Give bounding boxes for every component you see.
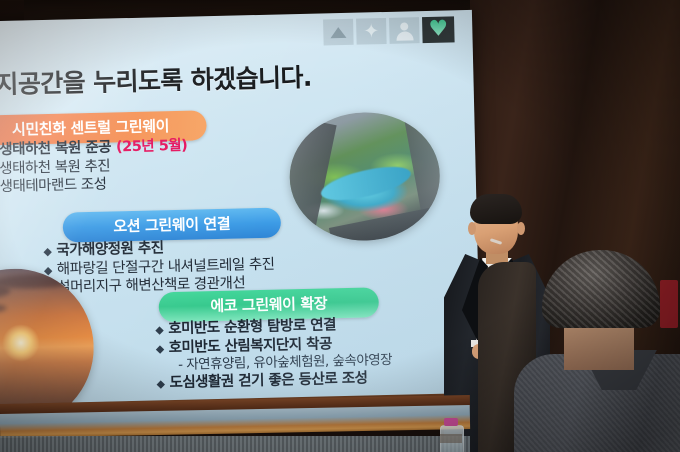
bullet-highlight: (25년 5월): [116, 137, 188, 157]
presenter-ear-right: [517, 222, 525, 235]
bottle-label: [440, 434, 462, 443]
podium-mesh-panel: [0, 436, 470, 452]
slide-title: 지공간을 누리도록 하겠습니다.: [0, 58, 312, 101]
sparkle-icon: ✦: [356, 18, 387, 45]
water-bottle: [440, 418, 462, 452]
diamond-bullet-icon: ◆: [156, 342, 164, 356]
projection-screen: ✦ ♥ 지공간을 누리도록 하겠습니다. 시민친화 센트럴 그린웨이 산천 생태…: [0, 10, 481, 412]
audience-hair: [542, 250, 660, 328]
diamond-bullet-icon: ◆: [155, 323, 163, 337]
person-icon: [389, 17, 420, 44]
bottle-cap: [444, 418, 458, 426]
audience-member-foreground: [520, 250, 680, 452]
diamond-bullet-icon: ◆: [43, 245, 51, 259]
chevron-up-icon: [323, 19, 354, 46]
bullet-group-eco: ◆호미반도 순환형 탐방로 연결 ◆호미반도 산림복지단지 착공 - 자연휴양림…: [155, 315, 393, 393]
presenter-ear-left: [468, 222, 476, 235]
bullet-item: 환경 생태테마랜드 조성: [0, 174, 188, 198]
diamond-bullet-icon: ◆: [156, 378, 164, 392]
presenter-hair: [470, 194, 522, 224]
heart-icon: ♥: [422, 16, 455, 43]
bullet-group-ocean: ◆국가해양정원 추진 ◆해파랑길 단절구간 내셔널트레일 추진 ◆설머리지구 해…: [43, 237, 275, 298]
slide-watermark-logo: ✦ ♥: [323, 16, 455, 45]
riverside-park-rendering: [288, 111, 441, 242]
bullet-group-central: 산천 생태하천 복원 준공(25년 5월) 학천 생태하천 복원 추진 환경 생…: [0, 137, 188, 198]
conference-room-photo: ✦ ♥ 지공간을 누리도록 하겠습니다. 시민친화 센트럴 그린웨이 산천 생태…: [0, 0, 680, 452]
